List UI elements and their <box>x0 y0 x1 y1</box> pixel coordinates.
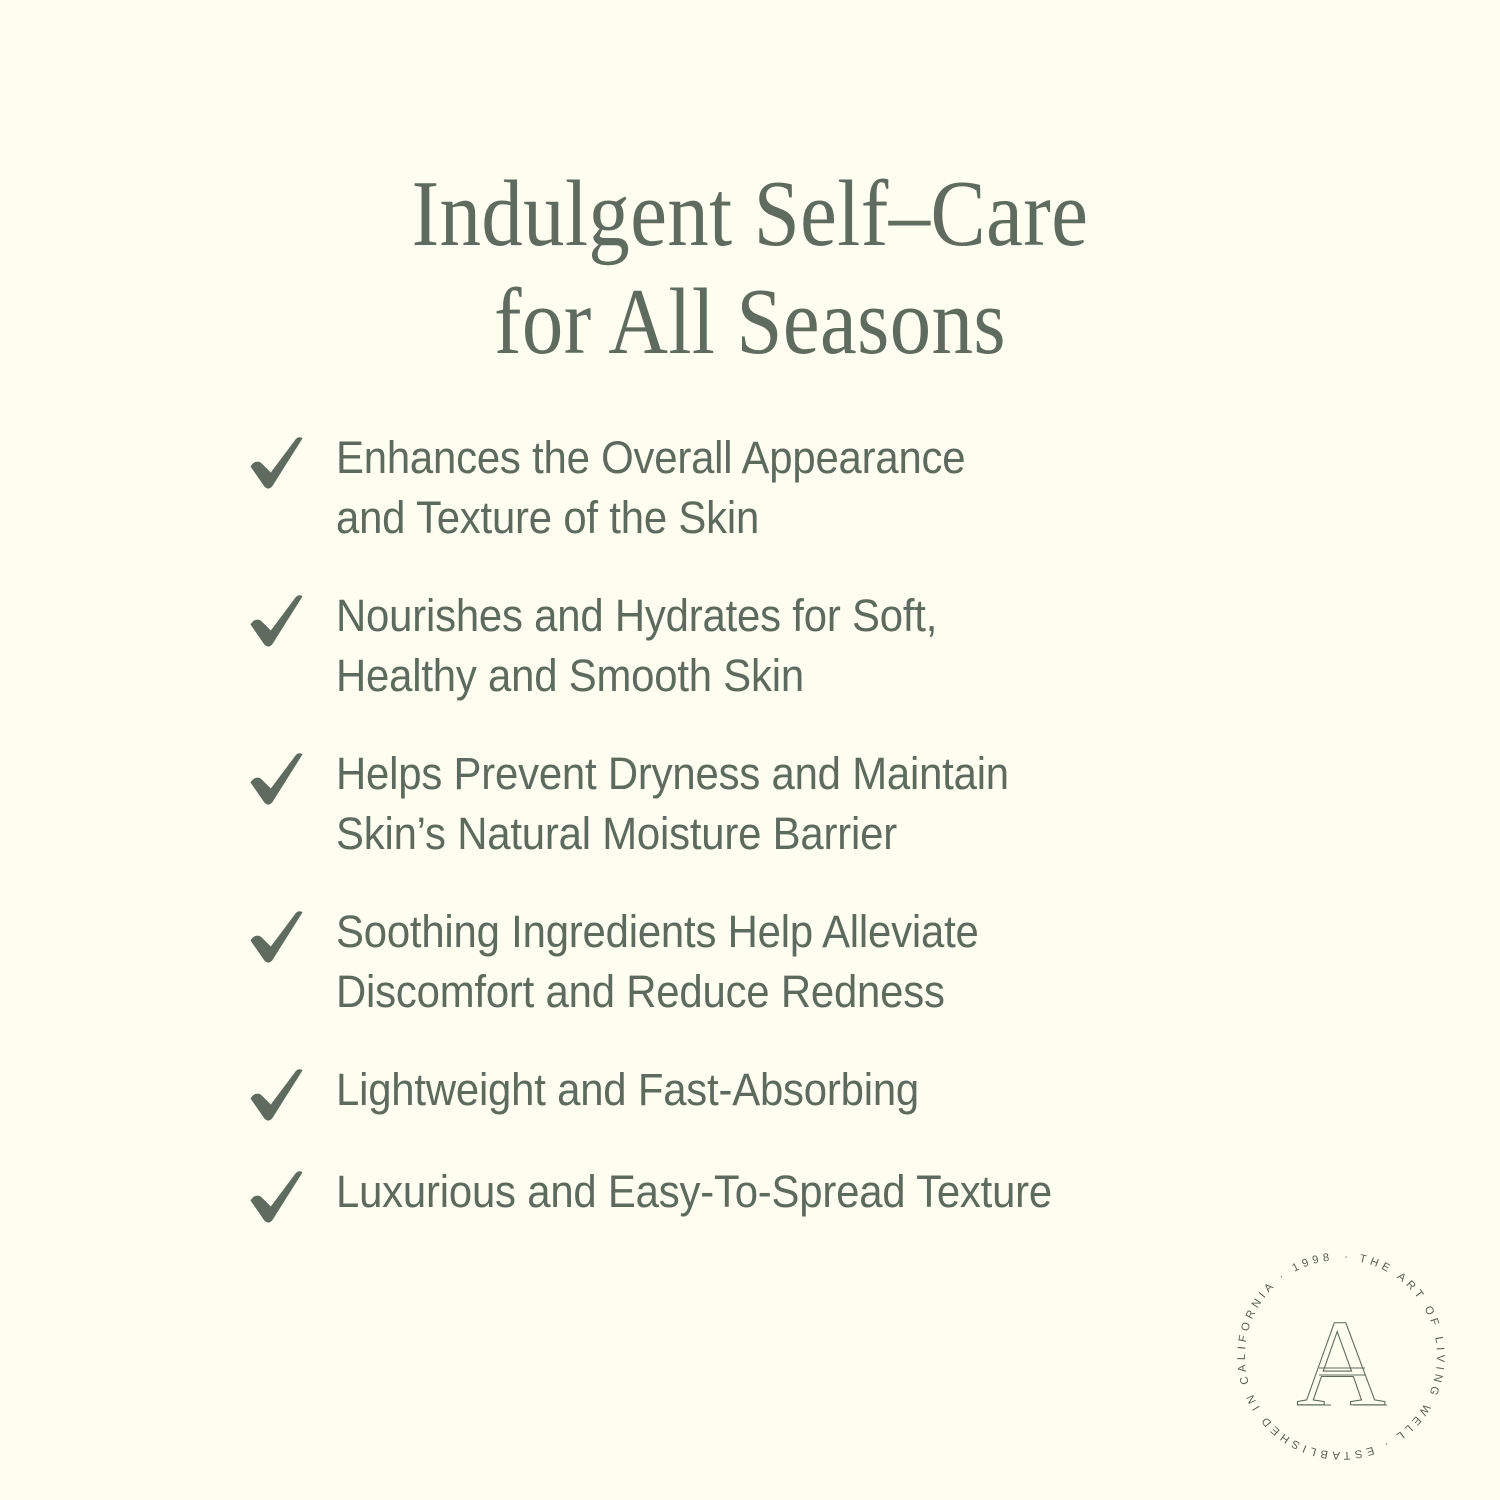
check-icon <box>248 1068 308 1124</box>
list-item-label: Lightweight and Fast-Absorbing <box>336 1060 919 1120</box>
list-item: Soothing Ingredients Help Alleviate Disc… <box>248 902 1208 1022</box>
list-item: Helps Prevent Dryness and Maintain Skin’… <box>248 744 1208 864</box>
check-icon <box>248 910 308 966</box>
page-title-line-1: Indulgent Self–Care <box>90 160 1410 268</box>
check-icon <box>248 594 308 650</box>
page-title: Indulgent Self–Care for All Seasons <box>0 160 1500 376</box>
benefits-list: Enhances the Overall Appearance and Text… <box>248 428 1208 1226</box>
list-item: Nourishes and Hydrates for Soft, Healthy… <box>248 586 1208 706</box>
page-title-line-2: for All Seasons <box>90 268 1410 376</box>
check-icon <box>248 752 308 808</box>
list-item-label: Nourishes and Hydrates for Soft, Healthy… <box>336 586 937 706</box>
list-item-label: Soothing Ingredients Help Alleviate Disc… <box>336 902 979 1022</box>
list-item: Enhances the Overall Appearance and Text… <box>248 428 1208 548</box>
promo-graphic: Indulgent Self–Care for All Seasons Enha… <box>0 0 1500 1500</box>
list-item-label: Luxurious and Easy-To-Spread Texture <box>336 1162 1052 1222</box>
seal-monogram-letter: A <box>1296 1295 1386 1432</box>
check-icon <box>248 436 308 492</box>
list-item: Lightweight and Fast-Absorbing <box>248 1060 1208 1124</box>
list-item-label: Enhances the Overall Appearance and Text… <box>336 428 965 548</box>
brand-seal-logo: · THE ART OF LIVING WELL · ESTABLISHED I… <box>1225 1240 1457 1472</box>
list-item-label: Helps Prevent Dryness and Maintain Skin’… <box>336 744 1009 864</box>
list-item: Luxurious and Easy-To-Spread Texture <box>248 1162 1208 1226</box>
check-icon <box>248 1170 308 1226</box>
